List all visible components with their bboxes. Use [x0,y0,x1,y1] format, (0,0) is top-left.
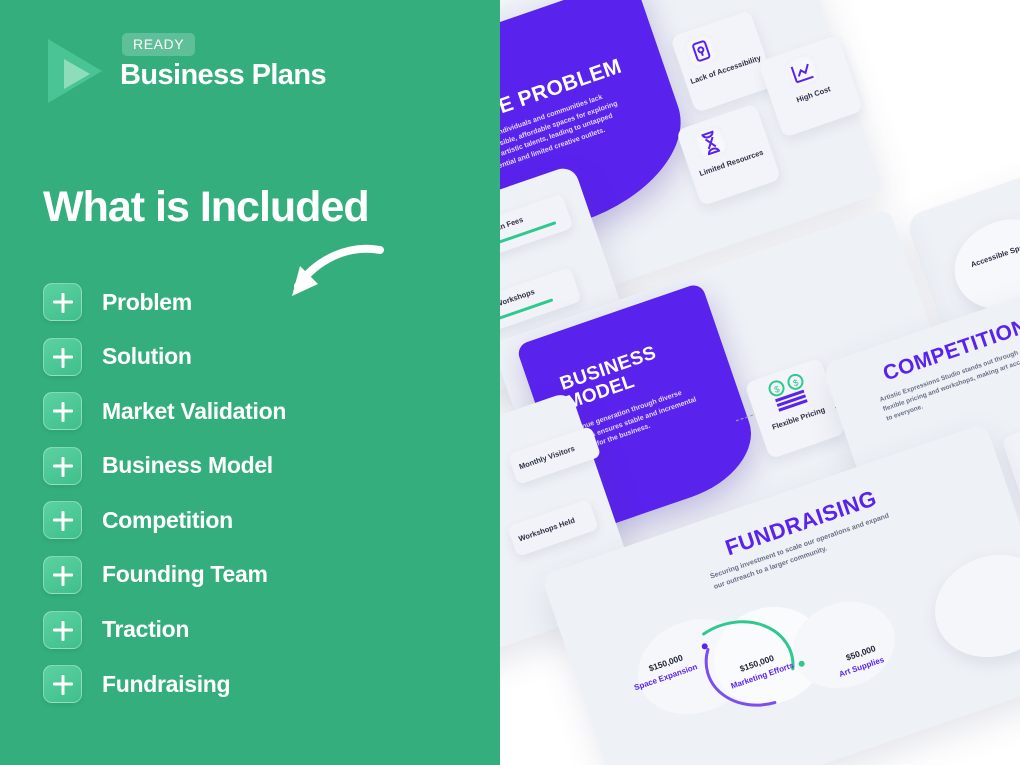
hourglass-icon [692,124,730,162]
play-triangle-icon [44,37,112,105]
traction-stat-1[interactable]: Workshops Held [507,499,599,557]
plus-icon [43,501,82,539]
page-title: What is Included [43,183,369,232]
brand-block: READY Business Plans [44,33,374,113]
plus-icon [43,556,82,594]
plus-icon [43,392,82,430]
list-item-label: Business Model [102,452,273,479]
plus-icon [43,338,82,376]
problem-card-1[interactable]: High Cost [758,35,863,138]
list-item-label: Traction [102,616,189,643]
list-item-market-validation[interactable]: Market Validation [43,391,473,431]
list-item-traction[interactable]: Traction [43,610,473,650]
ready-badge: READY [122,33,195,56]
chart-up-icon [783,52,821,90]
list-item-solution[interactable]: Solution [43,337,473,377]
problem-card-2[interactable]: Limited Resources [676,103,781,206]
plus-icon [43,611,82,649]
slide-deck-showcase: THE PROBLEM Many individuals and communi… [500,0,1020,765]
list-item-label: Fundraising [102,671,230,698]
list-item-fundraising[interactable]: Fundraising [43,664,473,704]
list-item-business-model[interactable]: Business Model [43,446,473,486]
list-item-competition[interactable]: Competition [43,500,473,540]
list-item-label: Problem [102,289,192,316]
list-item-founding-team[interactable]: Founding Team [43,555,473,595]
traction-stat-0-label: Monthly Visitors [518,444,576,471]
promo-graphic: THE PROBLEM Many individuals and communi… [0,0,1020,765]
traction-stat-1-label: Workshops Held [517,516,576,544]
problem-card-0[interactable]: Lack of Accessibility [670,10,775,113]
info-panel: READY Business Plans What is Included Pr… [0,0,500,765]
list-item-label: Founding Team [102,561,268,588]
plus-icon [43,447,82,485]
brand-title: Business Plans [120,59,326,92]
document-lock-icon [682,32,720,70]
plus-icon [43,665,82,703]
list-item-problem[interactable]: Problem [43,282,473,322]
traction-stat-0[interactable]: Monthly Visitors [508,426,602,485]
included-list: Problem Solution Market Validation Busin… [43,282,473,719]
svg-text:$: $ [792,377,800,388]
revenue-bar-0[interactable]: Drop-in Fees [500,194,574,260]
plus-icon [43,283,82,321]
list-item-label: Market Validation [102,398,286,425]
list-item-label: Competition [102,507,233,534]
list-item-label: Solution [102,343,192,370]
svg-text:$: $ [773,384,781,395]
